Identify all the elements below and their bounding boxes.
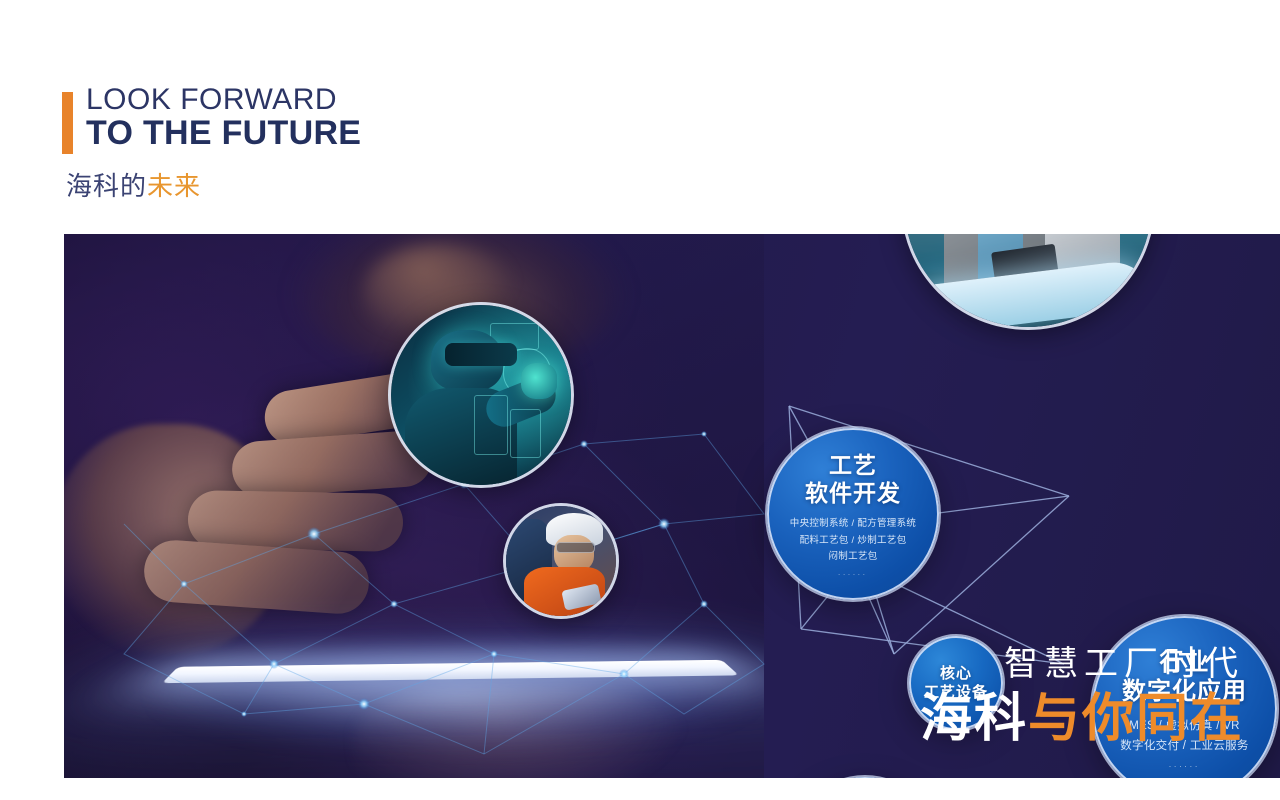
slogan-main-line: 海科与你同在 <box>920 688 1244 750</box>
slogan-brand: 海科 <box>920 690 1028 748</box>
header-line-3-accent: 未来 <box>147 171 201 201</box>
slogan-top-line: 智慧工厂时代 <box>920 643 1244 686</box>
header-accent-bar <box>62 92 73 154</box>
vr-headset-user-photo <box>391 305 571 485</box>
vr-headset-visor <box>445 343 517 366</box>
slogan-block: 智慧工厂时代 海科与你同在 <box>920 643 1244 750</box>
vr-user-glove <box>521 363 557 399</box>
engineer-tablet-photo <box>506 506 616 616</box>
slide-root: LOOK FORWARD TO THE FUTURE 海科的未来 <box>0 0 1280 800</box>
header-line-2: TO THE FUTURE <box>86 116 361 152</box>
vr-hud-panel-c <box>510 409 541 458</box>
header-line-3: 海科的未来 <box>66 166 201 203</box>
vr-hud-panel-b <box>474 395 508 455</box>
header-line-1: LOOK FORWARD <box>86 84 337 116</box>
node-process-software-development[interactable]: 工艺 软件开发 中央控制系统 / 配方管理系统 配料工艺包 / 炒制工艺包 闷制… <box>767 428 939 600</box>
node-subtitle: 中央控制系统 / 配方管理系统 配料工艺包 / 炒制工艺包 闷制工艺包 <box>790 516 916 566</box>
node-title: 工艺 软件开发 <box>805 451 901 507</box>
factory-workers-photo <box>904 234 1152 327</box>
safety-glasses <box>556 542 595 553</box>
slogan-tagline: 与你同在 <box>1028 690 1244 748</box>
node-ellipsis: ...... <box>1169 760 1200 769</box>
header-line-3-plain: 海科的 <box>66 171 147 201</box>
node-ellipsis: ...... <box>838 570 868 577</box>
main-visual-panel: 工艺 软件开发 中央控制系统 / 配方管理系统 配料工艺包 / 炒制工艺包 闷制… <box>64 234 1280 778</box>
